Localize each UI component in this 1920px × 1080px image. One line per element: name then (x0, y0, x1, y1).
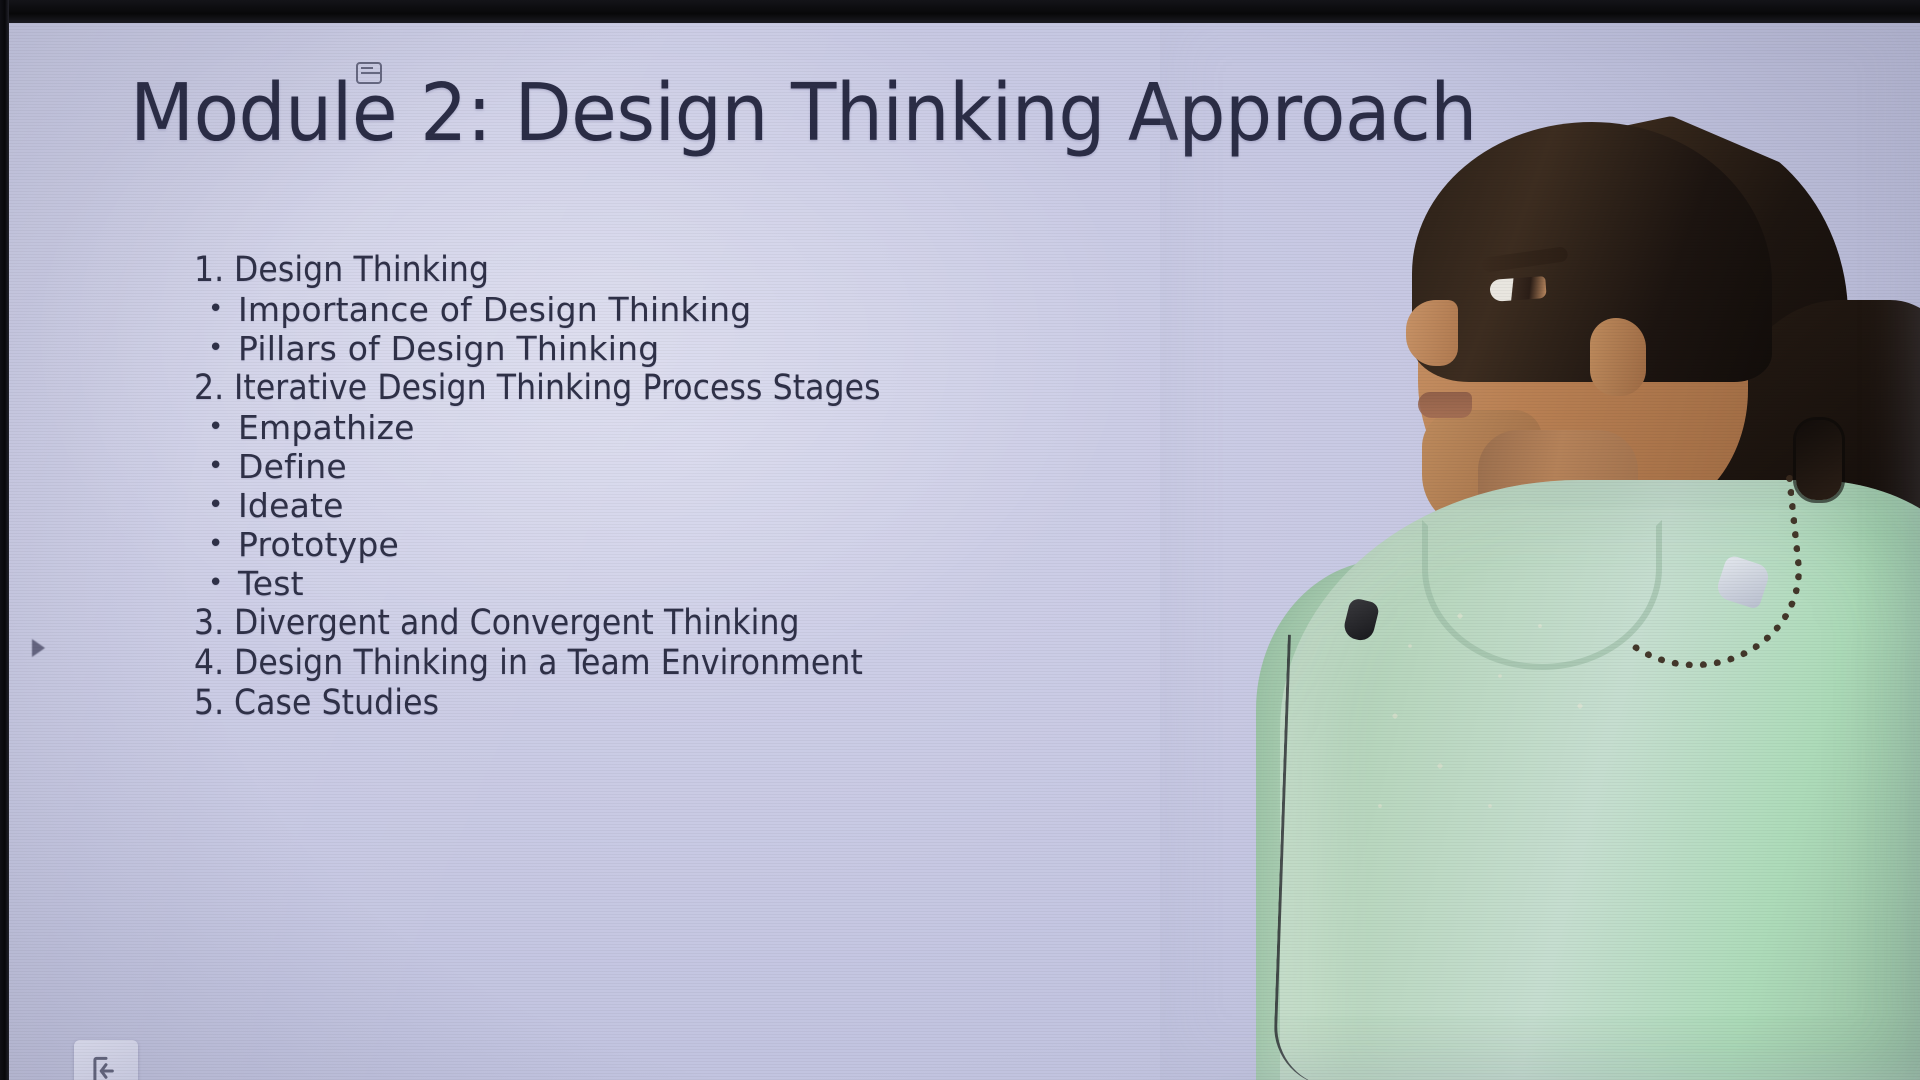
outline-item: •Ideate (202, 486, 1144, 525)
display-bezel-left (0, 0, 9, 1080)
outline-item: •Pillars of Design Thinking (202, 329, 1144, 368)
outline-bullet-icon: • (202, 490, 238, 520)
presenter-eye (1489, 276, 1546, 302)
presenter-ear (1590, 318, 1646, 396)
outline-item-label: Importance of Design Thinking (238, 290, 751, 329)
outline-item-label: Design Thinking in a Team Environment (234, 643, 863, 683)
outline-item: 2.Iterative Design Thinking Process Stag… (194, 368, 1144, 408)
outline-item-label: Define (238, 447, 347, 486)
outline-number: 2. (194, 368, 234, 408)
outline-bullet-icon: • (202, 529, 238, 559)
outline-bullet-icon: • (202, 451, 238, 481)
outline-item: 3.Divergent and Convergent Thinking (194, 603, 1144, 643)
outline-item: •Define (202, 447, 1144, 486)
outline-number: 5. (194, 683, 234, 723)
outline-item-label: Case Studies (234, 683, 439, 723)
outline-item: •Test (202, 564, 1144, 603)
presenter-hair-tie (1796, 420, 1842, 500)
outline-bullet-icon: • (202, 412, 238, 442)
play-triangle-icon[interactable] (32, 639, 45, 657)
outline-item: 1.Design Thinking (194, 250, 1144, 290)
display-bezel-top (0, 0, 1920, 23)
outline-item-label: Ideate (238, 486, 344, 525)
video-frame: Module 2: Design Thinking Approach 1.Des… (0, 0, 1920, 1080)
outline-item: •Importance of Design Thinking (202, 290, 1144, 329)
outline-item: 5.Case Studies (194, 683, 1144, 723)
login-arrow-icon[interactable] (74, 1040, 138, 1080)
presenter-lips (1418, 392, 1472, 418)
lapel-mic-wire (1272, 635, 1378, 1080)
outline-bullet-icon: • (202, 333, 238, 363)
outline-number: 4. (194, 643, 234, 683)
outline-item-label: Divergent and Convergent Thinking (234, 603, 800, 643)
slide-outline-list: 1.Design Thinking•Importance of Design T… (194, 250, 1144, 723)
outline-number: 3. (194, 603, 234, 643)
slide-watermark-icon (356, 62, 382, 84)
presenter-nose (1406, 300, 1458, 366)
outline-item-label: Pillars of Design Thinking (238, 329, 659, 368)
outline-item-label: Iterative Design Thinking Process Stages (234, 368, 881, 408)
outline-item-label: Design Thinking (234, 250, 489, 290)
outline-item-label: Test (238, 564, 304, 603)
outline-bullet-icon: • (202, 294, 238, 324)
outline-item-label: Prototype (238, 525, 399, 564)
presenter-figure (1160, 22, 1920, 1080)
outline-item-label: Empathize (238, 408, 415, 447)
outline-item: •Empathize (202, 408, 1144, 447)
outline-number: 1. (194, 250, 234, 290)
outline-bullet-icon: • (202, 568, 238, 598)
outline-item: •Prototype (202, 525, 1144, 564)
outline-item: 4.Design Thinking in a Team Environment (194, 643, 1144, 683)
projection-screen: Module 2: Design Thinking Approach 1.Des… (8, 22, 1920, 1080)
